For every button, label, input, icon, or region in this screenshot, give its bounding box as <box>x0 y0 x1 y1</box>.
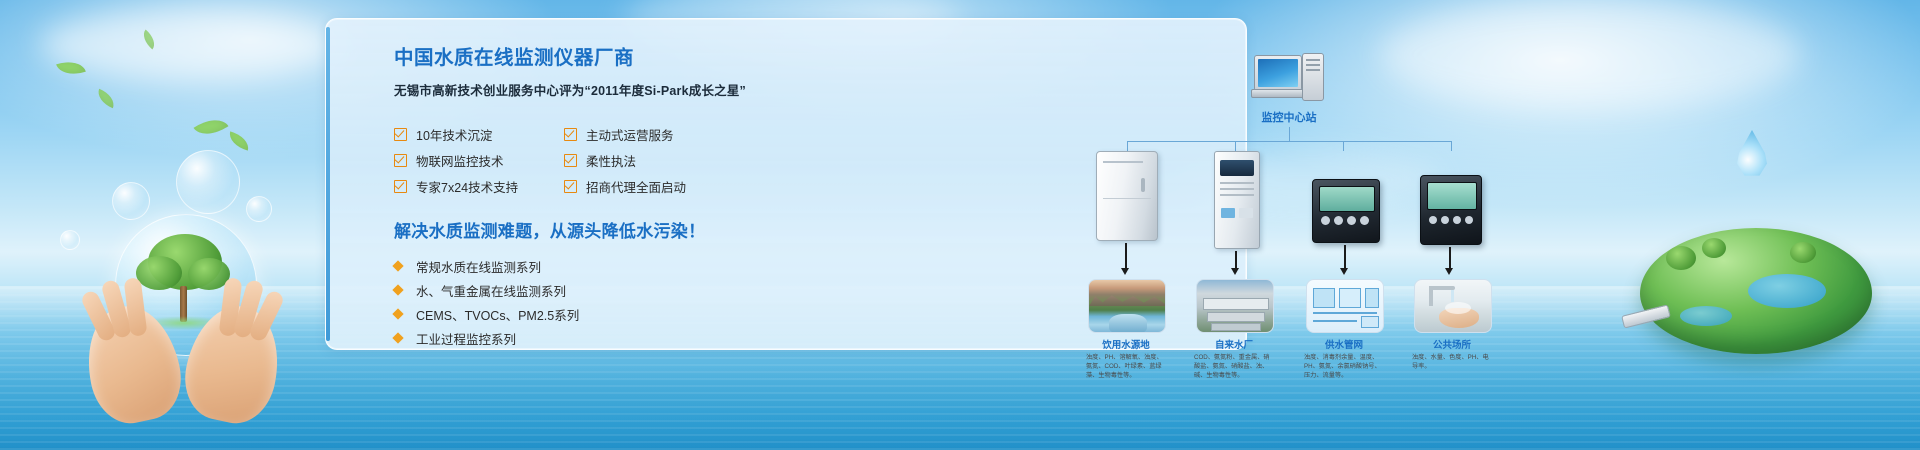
arrow-down-icon <box>1344 245 1346 269</box>
checklist-item[interactable]: 10年技术沉淀 <box>394 121 564 147</box>
connector-vertical <box>1289 127 1290 141</box>
checkbox-checked-icon <box>394 180 407 193</box>
scene-desc: 浊度、消毒剂余量、温度、PH、氨氮、余氯硝酸钠号、压力、流量等。 <box>1304 354 1384 381</box>
panel-text-column: 中国水质在线监测仪器厂商 无锡市高新技术创业服务中心评为“2011年度Si-Pa… <box>394 47 734 350</box>
monitor-screen <box>1254 55 1302 91</box>
checklist-item[interactable]: 柔性执法 <box>564 147 734 173</box>
device-panel-controller[interactable] <box>1420 151 1480 245</box>
hands-holding-eco-sphere <box>70 198 300 450</box>
connector-branch <box>1235 141 1236 151</box>
panel-subtitle: 无锡市高新技术创业服务中心评为“2011年度Si-Park成长之星” <box>394 80 734 99</box>
list-item[interactable]: 工业过程监控系列 <box>394 326 734 350</box>
scene-card[interactable]: 公共场所 浊度、水量、色度、PH、电导率。 <box>1414 279 1490 372</box>
globe-tree-icon <box>1666 246 1696 270</box>
checkbox-checked-icon <box>394 154 407 167</box>
list-item[interactable]: CEMS、TVOCs、PM2.5系列 <box>394 302 734 326</box>
connector-horizontal <box>1127 141 1451 142</box>
globe-tree-icon <box>1790 242 1816 263</box>
checkbox-checked-icon <box>564 154 577 167</box>
scene-card[interactable]: 供水管网 浊度、消毒剂余量、温度、PH、氨氮、余氯硝酸钠号、压力、流量等。 <box>1306 279 1382 381</box>
faucet-handwash-photo <box>1414 279 1492 333</box>
checklist-item-label: 物联网监控技术 <box>416 151 504 170</box>
pipeline-diagram-photo <box>1306 279 1384 333</box>
arrow-down-icon <box>1125 243 1127 269</box>
diamond-bullet-icon <box>392 309 403 320</box>
checklist-item[interactable]: 物联网监控技术 <box>394 147 564 173</box>
scene-title: 公共场所 <box>1414 337 1490 351</box>
device-cabinet-analyzer[interactable] <box>1096 151 1156 241</box>
scene-title: 饮用水源地 <box>1088 337 1164 351</box>
diamond-bullet-icon <box>392 333 403 344</box>
connector-branch <box>1343 141 1344 151</box>
page-title: 中国水质在线监测仪器厂商 <box>394 47 734 70</box>
list-item-label: 水、气重金属在线监测系列 <box>416 281 566 300</box>
pc-tower <box>1302 53 1324 101</box>
checklist-item-label: 招商代理全面启动 <box>586 177 686 196</box>
diamond-bullet-icon <box>392 285 403 296</box>
arrow-down-icon <box>1235 251 1237 269</box>
scene-desc: COD、氨氮粉、重金属、硝酸盐、氨氮、硝酸盐、浊、碱、生物毒性等。 <box>1194 354 1274 381</box>
scene-title: 供水管网 <box>1306 337 1382 351</box>
river-landscape-photo <box>1088 279 1166 333</box>
scene-desc: 浊度、PH、溶解氧、浊度、氨氮、COD、叶绿素、蓝绿藻、生物毒性等。 <box>1086 354 1166 381</box>
scene-card[interactable]: 自来水厂 COD、氨氮粉、重金属、硝酸盐、氨氮、硝酸盐、浊、碱、生物毒性等。 <box>1196 279 1272 381</box>
desktop-computer-icon <box>1254 55 1324 101</box>
list-item-label: CEMS、TVOCs、PM2.5系列 <box>416 305 579 324</box>
checkbox-checked-icon <box>564 128 577 141</box>
list-item[interactable]: 常规水质在线监测系列 <box>394 254 734 278</box>
globe-lake <box>1748 274 1826 308</box>
monitor-base <box>1251 89 1307 98</box>
list-item-label: 工业过程监控系列 <box>416 329 516 348</box>
diamond-bullet-icon <box>392 261 403 272</box>
list-item-label: 常规水质在线监测系列 <box>416 257 541 276</box>
center-station-label: 监控中心站 <box>1206 109 1372 125</box>
scene-card[interactable]: 饮用水源地 浊度、PH、溶解氧、浊度、氨氮、COD、叶绿素、蓝绿藻、生物毒性等。 <box>1088 279 1164 381</box>
checklist-item[interactable]: 招商代理全面启动 <box>564 173 734 199</box>
checklist-item-label: 柔性执法 <box>586 151 636 170</box>
device-rack-analyzer[interactable] <box>1206 151 1266 249</box>
checklist-item-label: 10年技术沉淀 <box>416 125 492 144</box>
green-globe-illustration <box>1640 228 1872 354</box>
list-item[interactable]: 水、气重金属在线监测系列 <box>394 278 734 302</box>
promo-panel: 中国水质在线监测仪器厂商 无锡市高新技术创业服务中心评为“2011年度Si-Pa… <box>325 18 1247 350</box>
checklist-item-label: 专家7x24技术支持 <box>416 177 518 196</box>
system-topology-diagram: 监控中心站 <box>1086 41 1486 361</box>
checkbox-checked-icon <box>394 128 407 141</box>
tree-canopy-icon <box>136 256 182 290</box>
arrow-down-icon <box>1449 247 1451 269</box>
water-plant-photo <box>1196 279 1274 333</box>
product-series-list: 常规水质在线监测系列 水、气重金属在线监测系列 CEMS、TVOCs、PM2.5… <box>394 254 734 350</box>
connector-branch <box>1127 141 1128 151</box>
feature-checklist: 10年技术沉淀 主动式运营服务 物联网监控技术 柔性执法 专家7x24技术支持 … <box>394 121 734 199</box>
section-headline: 解决水质监测难题，从源头降低水污染！ <box>394 217 734 242</box>
scene-title: 自来水厂 <box>1196 337 1272 351</box>
globe-tree-icon <box>1702 238 1726 258</box>
scene-desc: 浊度、水量、色度、PH、电导率。 <box>1412 354 1492 372</box>
checkbox-checked-icon <box>564 180 577 193</box>
checklist-item[interactable]: 专家7x24技术支持 <box>394 173 564 199</box>
checklist-item[interactable]: 主动式运营服务 <box>564 121 734 147</box>
checklist-item-label: 主动式运营服务 <box>586 125 674 144</box>
globe-lake <box>1680 306 1732 326</box>
device-wide-controller[interactable] <box>1312 151 1372 243</box>
connector-branch <box>1451 141 1452 151</box>
